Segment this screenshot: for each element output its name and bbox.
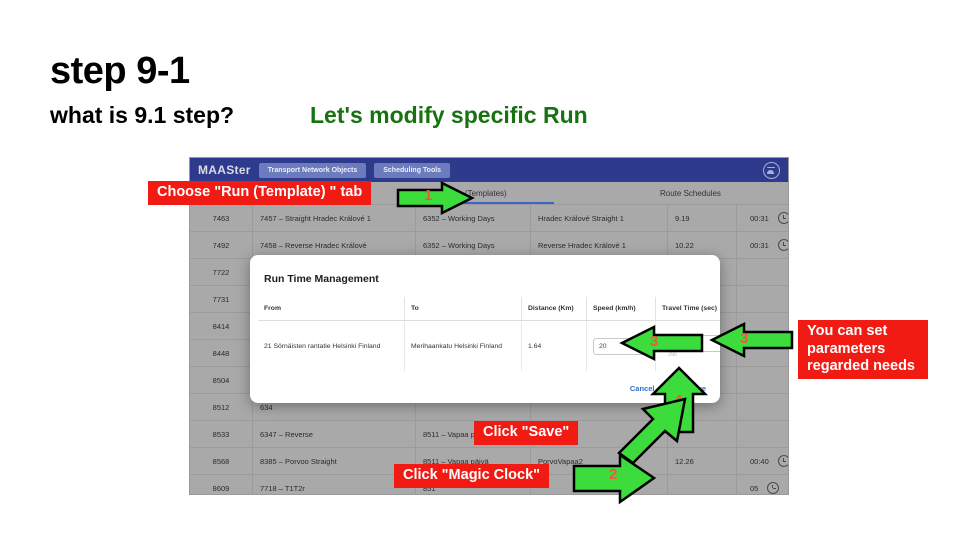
row-id: 8504 xyxy=(190,367,253,394)
row-id: 8448 xyxy=(190,340,253,367)
row-time: 00:40 xyxy=(750,457,769,466)
row-id: 8568 xyxy=(190,448,253,475)
row-time-cell xyxy=(737,286,789,313)
row-distance: 9.19 xyxy=(668,205,737,232)
row-id: 8533 xyxy=(190,421,253,448)
row-name: 7718 – T1T2r xyxy=(253,475,416,495)
annotation-arrow-4-bottom xyxy=(615,395,693,457)
col-header-travel-time: Travel Time (sec) xyxy=(656,297,721,321)
row-id: 8414 xyxy=(190,313,253,340)
clock-icon[interactable] xyxy=(778,455,788,467)
row-time-cell: 00:40 xyxy=(737,448,789,475)
cell-distance: 1.64 xyxy=(522,321,587,372)
row-id: 8609 xyxy=(190,475,253,495)
col-header-speed: Speed (km/h) xyxy=(587,297,656,321)
clock-icon[interactable] xyxy=(767,482,779,494)
row-time: 00:31 xyxy=(750,214,769,223)
slide-question: what is 9.1 step? xyxy=(50,102,234,129)
nav-tab-transport-network-objects[interactable]: Transport Network Objects xyxy=(259,163,366,178)
row-time-cell xyxy=(737,259,789,286)
row-time-cell: 00:31 xyxy=(737,205,789,232)
row-time: 00:31 xyxy=(750,241,769,250)
clock-icon[interactable] xyxy=(778,212,788,224)
annotation-number-2: 2 xyxy=(609,466,617,483)
app-brand: MAASter xyxy=(198,163,251,177)
dialog-title: Run Time Management xyxy=(250,255,720,297)
slide-answer: Let's modify specific Run xyxy=(310,102,588,129)
row-route: Hradec Králové Straight 1 xyxy=(531,205,668,232)
row-id: 8512 xyxy=(190,394,253,421)
row-id: 7722 xyxy=(190,259,253,286)
app-header: MAASter Transport Network Objects Schedu… xyxy=(190,158,788,182)
annotation-number-3-left: 3 xyxy=(650,333,658,350)
annotation-label-3: You can set parameters regarded needs xyxy=(798,320,928,379)
cell-from: 21 Sörnäisten rantatie Helsinki Finland xyxy=(258,321,405,372)
col-header-from: From xyxy=(258,297,405,321)
row-time-cell xyxy=(737,421,789,448)
annotation-label-1: Choose "Run (Template) " tab xyxy=(148,181,371,205)
row-time-cell: 00:31 xyxy=(737,232,789,259)
row-name: 7457 – Straight Hradec Králové 1 xyxy=(253,205,416,232)
account-circle-icon[interactable] xyxy=(763,162,780,179)
nav-tab-scheduling-tools[interactable]: Scheduling Tools xyxy=(374,163,450,178)
row-time: 05 xyxy=(750,484,758,493)
row-name: 8385 – Porvoo Straight xyxy=(253,448,416,475)
col-header-to: To xyxy=(405,297,522,321)
annotation-arrow-1 xyxy=(396,181,474,215)
row-id: 7463 xyxy=(190,205,253,232)
annotation-number-1: 1 xyxy=(424,187,432,204)
cell-to: Merihaankatu Helsinki Finland xyxy=(405,321,522,372)
clock-icon[interactable] xyxy=(778,239,788,251)
table-row[interactable]: 7463 7457 – Straight Hradec Králové 1 63… xyxy=(190,205,788,232)
row-time-cell xyxy=(737,394,789,421)
col-header-distance: Distance (Km) xyxy=(522,297,587,321)
row-id: 7731 xyxy=(190,286,253,313)
page-title: step 9-1 xyxy=(50,50,190,93)
run-time-header-row: From To Distance (Km) Speed (km/h) Trave… xyxy=(258,297,720,321)
row-name: 6347 – Reverse xyxy=(253,421,416,448)
row-id: 7492 xyxy=(190,232,253,259)
annotation-label-4: Click "Save" xyxy=(474,421,578,445)
annotation-number-3-right: 3 xyxy=(740,330,748,347)
annotation-arrow-3-left xyxy=(620,325,704,361)
tab-route-schedules[interactable]: Route Schedules xyxy=(660,189,721,198)
row-time-cell: 05 xyxy=(737,475,789,495)
row-time-cell xyxy=(737,367,789,394)
annotation-arrow-3-right xyxy=(710,322,794,358)
row-distance xyxy=(668,475,737,495)
run-time-table-head: From To Distance (Km) Speed (km/h) Trave… xyxy=(258,297,720,321)
annotation-label-2: Click "Magic Clock" xyxy=(394,464,549,488)
